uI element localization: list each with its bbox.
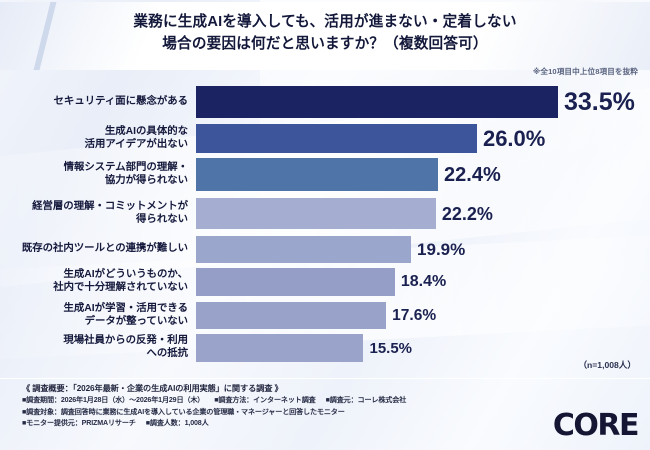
page-title-line1: 業務に生成AIを導入しても、活用が進まない・定着しない: [0, 11, 650, 33]
bar-category-label: 既存の社内ツールとの連携が難しい: [0, 243, 196, 256]
bar-category-label: 生成AIがどういうものか、 社内で十分理解されていない: [0, 269, 196, 295]
bar-track: 22.2%: [196, 198, 650, 229]
bar: [196, 124, 477, 153]
bar-track: 26.0%: [196, 124, 650, 153]
bar-category-label: 生成AIの具体的な 活用アイデアが出ない: [0, 126, 196, 152]
bar: [196, 268, 395, 296]
bar-track: 18.4%: [196, 268, 650, 296]
page-title-line2: 場合の要因は何だと思いますか？（複数回答可）: [0, 33, 650, 55]
footer: 《 調査概要：「2026年最新・企業の生成AIの利用実態」に関する調査 》 ■調…: [22, 383, 542, 430]
infographic-page: 業務に生成AIを導入しても、活用が進まない・定着しない 場合の要因は何だと思いま…: [0, 0, 650, 450]
bar: [196, 198, 436, 229]
bar: [196, 302, 386, 329]
bar-value-label: 19.9%: [417, 241, 465, 258]
bar-chart: セキュリティ面に懸念がある33.5%生成AIの具体的な 活用アイデアが出ない26…: [0, 84, 650, 356]
bar-track: 33.5%: [196, 86, 650, 118]
bar-value-label: 26.0%: [483, 128, 545, 150]
survey-source: ■調査元：コーレ株式会社: [326, 396, 407, 404]
bar-row: 経営層の理解・コミットメントが 得られない22.2%: [0, 198, 650, 229]
survey-meta-line-3: ■モニター提供元：PRIZMAリサーチ■調査人数：1,008人: [22, 418, 542, 429]
respondent-count: ■調査人数：1,008人: [146, 419, 209, 427]
monitor-provider: ■モニター提供元：PRIZMAリサーチ: [22, 419, 136, 427]
survey-target: ■調査対象：調査回答時に業務に生成AIを導入している企業の管理職・マネージャーと…: [22, 408, 345, 416]
bar-category-label: セキュリティ面に懸念がある: [0, 96, 196, 109]
survey-overview-title: 《 調査概要：「2026年最新・企業の生成AIの利用実態」に関する調査 》: [22, 383, 542, 395]
bar-value-label: 22.4%: [444, 165, 501, 185]
bar-row: 生成AIが学習・活用できる データが整っていない17.6%: [0, 302, 650, 329]
bar-value-label: 33.5%: [564, 90, 635, 115]
bar-value-label: 15.5%: [369, 341, 412, 356]
survey-method: ■調査方法：インターネット調査: [214, 396, 315, 404]
bar-row: 既存の社内ツールとの連携が難しい19.9%: [0, 236, 650, 263]
page-title: 業務に生成AIを導入しても、活用が進まない・定着しない 場合の要因は何だと思いま…: [0, 11, 650, 55]
bar-row: 生成AIがどういうものか、 社内で十分理解されていない18.4%: [0, 268, 650, 296]
bar: [196, 86, 558, 118]
bar-category-label: 現場社員からの反発・利用 への抵抗: [0, 335, 196, 361]
bar-value-label: 18.4%: [401, 274, 446, 290]
header: 業務に生成AIを導入しても、活用が進まない・定着しない 場合の要因は何だと思いま…: [0, 0, 650, 70]
bar-row: 生成AIの具体的な 活用アイデアが出ない26.0%: [0, 124, 650, 153]
survey-meta-line-1: ■調査期間：2026年1月28日（水）〜2026年1月29日（木）■調査方法：イ…: [22, 395, 542, 406]
bar-row: 情報システム部門の理解・ 協力が得られない22.4%: [0, 158, 650, 191]
bar-value-label: 22.2%: [442, 205, 493, 223]
bar-category-label: 経営層の理解・コミットメントが 得られない: [0, 201, 196, 227]
bar-row: セキュリティ面に懸念がある33.5%: [0, 86, 650, 118]
survey-period: ■調査期間：2026年1月28日（水）〜2026年1月29日（木）: [22, 396, 204, 404]
bar-row: 現場社員からの反発・利用 への抵抗15.5%: [0, 334, 650, 362]
bar-track: 19.9%: [196, 236, 650, 263]
bar-value-label: 17.6%: [392, 308, 436, 324]
bar: [196, 334, 363, 362]
bar-category-label: 情報システム部門の理解・ 協力が得られない: [0, 162, 196, 188]
sample-size-label: （n=1,008人）: [578, 359, 636, 371]
bar-track: 17.6%: [196, 302, 650, 329]
survey-meta-line-2: ■調査対象：調査回答時に業務に生成AIを導入している企業の管理職・マネージャーと…: [22, 407, 542, 418]
bar-track: 15.5%: [196, 334, 650, 362]
footer-divider: [0, 378, 650, 379]
bar: [196, 236, 411, 263]
core-logo: CORE: [553, 411, 638, 441]
excerpt-note: ※全10項目中上位8項目を抜粋: [533, 66, 638, 77]
bar: [196, 158, 438, 191]
bar-track: 22.4%: [196, 158, 650, 191]
bar-category-label: 生成AIが学習・活用できる データが整っていない: [0, 303, 196, 329]
